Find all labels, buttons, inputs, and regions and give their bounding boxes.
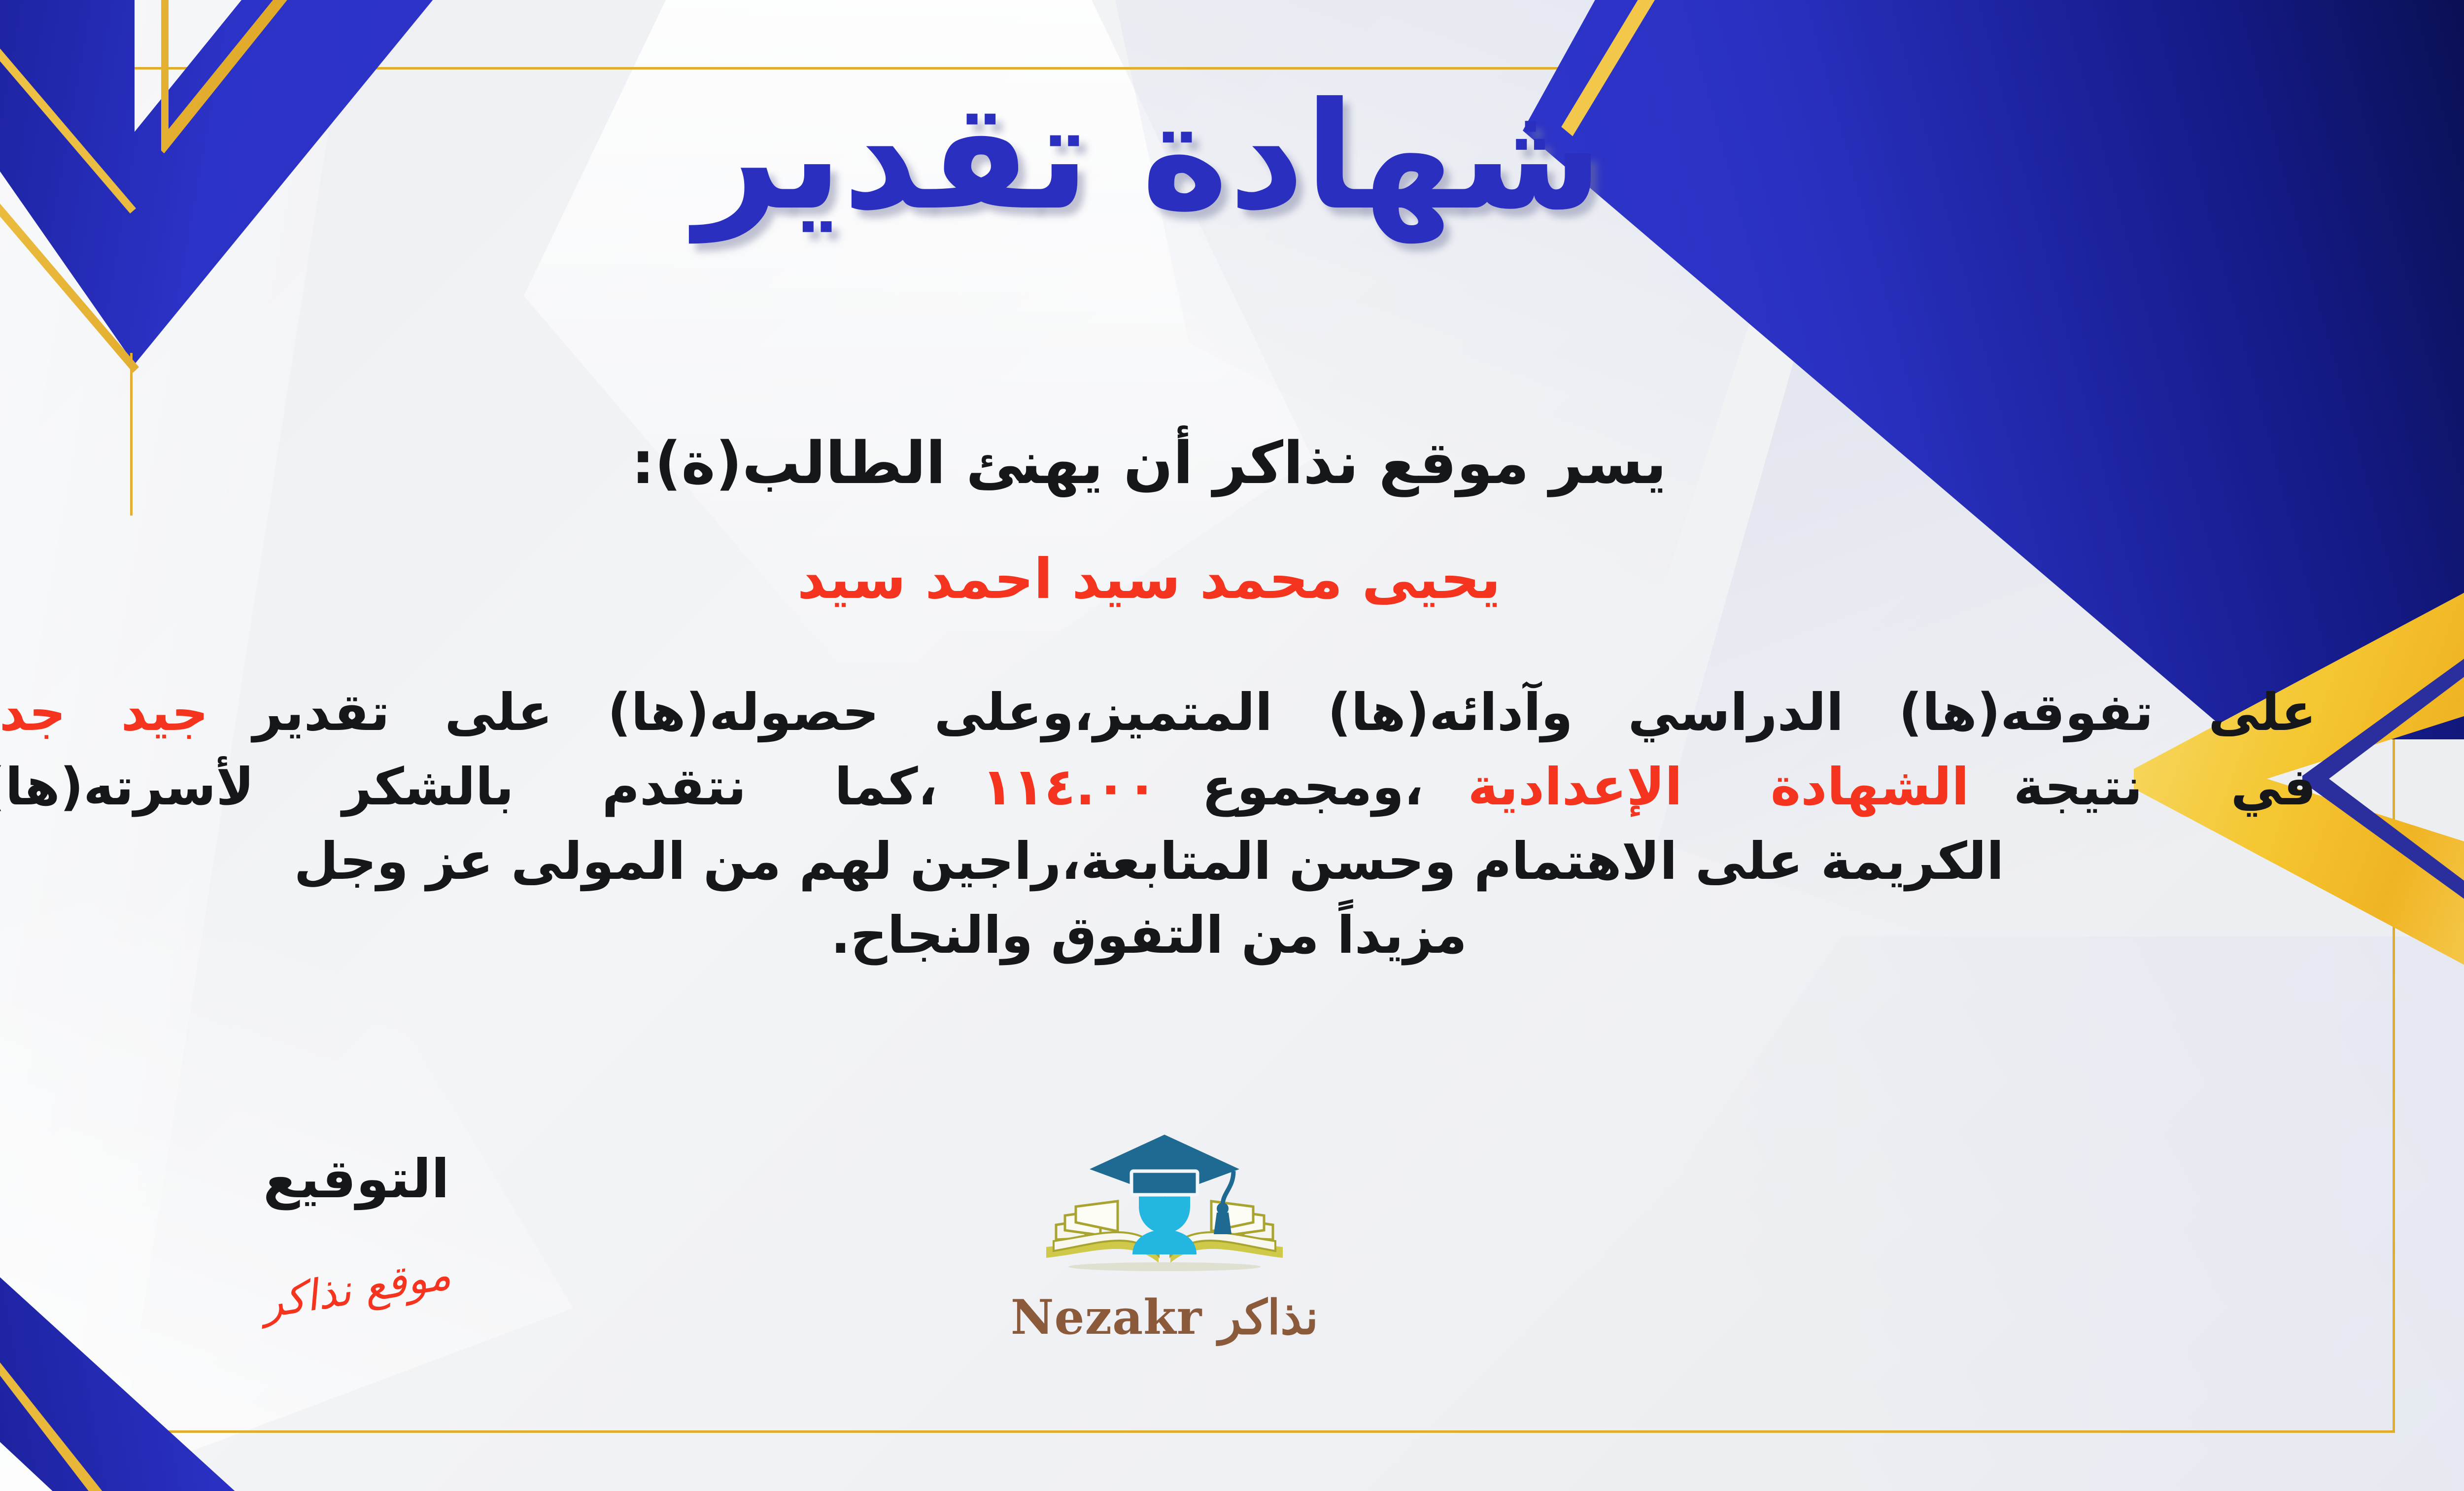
- body-line-2: في نتيجةالشهادة الإعدادية،ومجموع١١٤.٠٠،ك…: [0, 750, 2316, 824]
- site-logo-block: نذاكر Nezakr: [943, 1124, 1386, 1345]
- body-line-1-text: على تفوقه(ها) الدراسي وآدائه(ها) المتميز…: [253, 682, 2316, 742]
- body-line-1: على تفوقه(ها) الدراسي وآدائه(ها) المتميز…: [0, 675, 2316, 750]
- certificate-body: على تفوقه(ها) الدراسي وآدائه(ها) المتميز…: [0, 675, 2316, 972]
- exam-name: الشهادة الإعدادية: [1468, 757, 1969, 817]
- body-line-2-suffix: ،كما نتقدم بالشكر لأسرته(ها): [0, 757, 937, 817]
- signature-block: التوقيع موقع نذاكر: [179, 1148, 534, 1314]
- body-line-4: مزيداً من التفوق والنجاح.: [0, 898, 2316, 972]
- body-line-2-middle: ،ومجموع: [1202, 757, 1423, 817]
- total-score: ١١٤.٠٠: [982, 757, 1158, 817]
- signature-mark: موقع نذاكر: [259, 1249, 454, 1328]
- logo-caption: نذاكر Nezakr: [943, 1289, 1386, 1345]
- certificate-title: شهادة تقدير: [0, 64, 2464, 249]
- grade-value: جيد جداً: [0, 682, 208, 742]
- certificate-canvas: شهادة تقدير يسر موقع نذاكر أن يهنئ الطال…: [0, 0, 2464, 1491]
- graduate-on-book-icon: [1027, 1124, 1302, 1286]
- body-line-2-prefix: في نتيجة: [2014, 757, 2316, 817]
- student-name: يحيى محمد سيد احمد سيد: [0, 547, 2464, 611]
- certificate-content: شهادة تقدير يسر موقع نذاكر أن يهنئ الطال…: [0, 0, 2464, 1491]
- intro-line: يسر موقع نذاكر أن يهنئ الطالب(ة):: [0, 429, 2464, 497]
- signature-label: التوقيع: [179, 1148, 534, 1210]
- body-line-3: الكريمة على الاهتمام وحسن المتابعة،راجين…: [0, 824, 2316, 899]
